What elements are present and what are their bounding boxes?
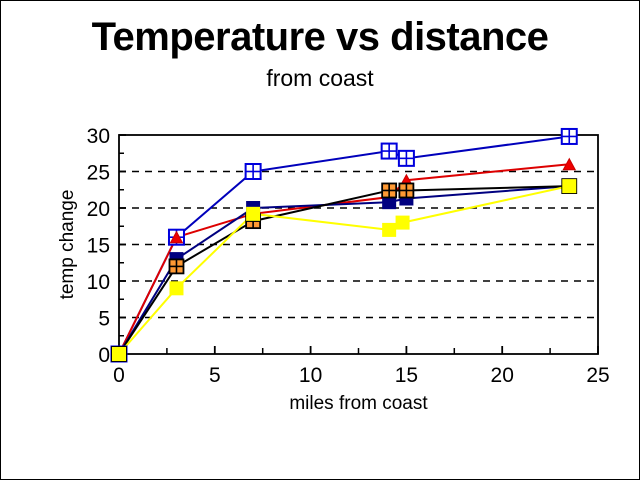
x-tick-labels: 0510152025 bbox=[113, 364, 610, 387]
x-tick-label: 15 bbox=[395, 364, 418, 387]
data-point-marker bbox=[396, 216, 409, 229]
y-tick-label: 30 bbox=[87, 125, 110, 148]
data-point-marker bbox=[169, 259, 183, 273]
y-tick-label: 10 bbox=[87, 271, 110, 294]
data-point-marker bbox=[562, 129, 577, 144]
x-tick-label: 0 bbox=[113, 364, 125, 387]
series-line-series-2 bbox=[119, 164, 569, 354]
data-point-marker bbox=[170, 282, 183, 295]
series-line-series-4 bbox=[119, 186, 569, 354]
series-line-series-5 bbox=[119, 186, 569, 354]
y-tick-label: 5 bbox=[98, 308, 110, 331]
y-axis-title: temp change bbox=[57, 190, 78, 300]
x-axis-title: miles from coast bbox=[289, 393, 428, 414]
chart-svg: 051015202530 0510152025 temp change mile… bbox=[1, 1, 639, 479]
data-point-marker bbox=[246, 164, 261, 179]
y-tick-label: 20 bbox=[87, 198, 110, 221]
x-tick-label: 25 bbox=[586, 364, 609, 387]
y-tick-label: 25 bbox=[87, 162, 110, 185]
data-point-marker bbox=[399, 151, 414, 166]
data-point-marker bbox=[382, 144, 397, 159]
data-point-marker bbox=[563, 180, 576, 193]
chart-page: Temperature vs distance from coast 05101… bbox=[0, 0, 640, 480]
gridlines bbox=[119, 172, 598, 318]
x-tick-label: 20 bbox=[491, 364, 514, 387]
data-point-marker bbox=[113, 348, 126, 361]
data-point-marker bbox=[382, 183, 396, 197]
y-tick-label: 0 bbox=[98, 344, 110, 367]
y-tick-labels: 051015202530 bbox=[87, 125, 110, 367]
y-tick-label: 15 bbox=[87, 235, 110, 258]
data-point-marker bbox=[399, 183, 413, 197]
series-line-series-3 bbox=[119, 186, 569, 354]
data-point-marker bbox=[247, 207, 260, 220]
x-tick-label: 10 bbox=[299, 364, 322, 387]
plot-area: 051015202530 0510152025 temp change mile… bbox=[1, 1, 639, 479]
x-tick-label: 5 bbox=[209, 364, 221, 387]
data-point-marker bbox=[383, 223, 396, 236]
